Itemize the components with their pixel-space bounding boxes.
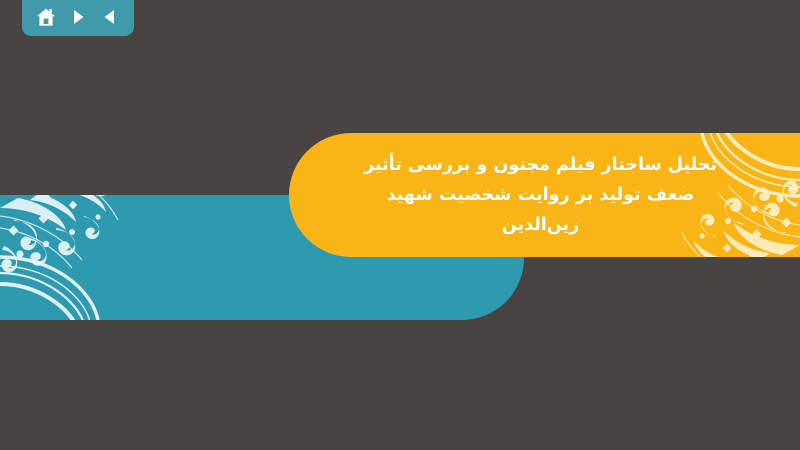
home-icon (36, 8, 56, 27)
arabesque-corner-ornament-mirrored-icon (0, 195, 150, 320)
title-line-1: تحلیل ساختار فیلم مجنون و بررسی تأثیر (364, 150, 717, 180)
slide-title: تحلیل ساختار فیلم مجنون و بررسی تأثیر ضع… (289, 133, 800, 257)
title-banner: تحلیل ساختار فیلم مجنون و بررسی تأثیر ضع… (289, 133, 800, 257)
next-slide-button[interactable] (64, 4, 92, 30)
title-line-3: زین‌الدین (502, 210, 579, 240)
slide-canvas: تحلیل ساختار فیلم مجنون و بررسی تأثیر ضع… (0, 0, 800, 450)
previous-slide-button[interactable] (96, 4, 124, 30)
previous-slide-icon (101, 8, 119, 26)
title-line-2: ضعف تولید بر روایت شخصیت شهید (387, 180, 695, 210)
next-slide-icon (69, 8, 87, 26)
home-button[interactable] (32, 4, 60, 30)
presentation-navigation-bar (22, 0, 134, 36)
